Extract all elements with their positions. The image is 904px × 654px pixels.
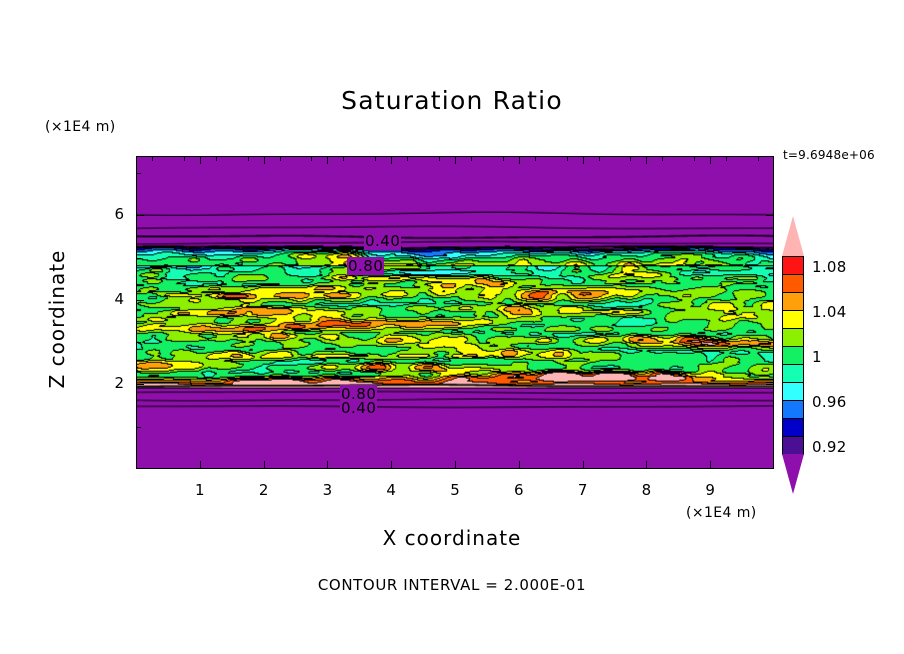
colorbar-tick-label: 0.92 bbox=[812, 438, 847, 456]
colorbar bbox=[782, 256, 804, 454]
x-axis-title: X coordinate bbox=[0, 526, 904, 550]
saturation-ratio-field bbox=[137, 157, 773, 468]
x-tick-label: 8 bbox=[631, 481, 661, 499]
x-tick-label: 9 bbox=[695, 481, 725, 499]
colorbar-segment bbox=[782, 328, 804, 347]
x-tick-label: 2 bbox=[249, 481, 279, 499]
y-tick-label: 4 bbox=[94, 290, 124, 308]
x-tick-label: 3 bbox=[312, 481, 342, 499]
x-tick-label: 5 bbox=[440, 481, 470, 499]
colorbar-tick-label: 1.08 bbox=[812, 258, 847, 276]
contour-interval-caption: CONTOUR INTERVAL = 2.000E-01 bbox=[0, 576, 904, 594]
y-tick-label: 2 bbox=[94, 374, 124, 392]
time-annotation: t=9.6948e+06 bbox=[783, 148, 875, 162]
x-tick-label: 6 bbox=[504, 481, 534, 499]
x-tick-label: 1 bbox=[185, 481, 215, 499]
colorbar-segment bbox=[782, 382, 804, 401]
colorbar-segment bbox=[782, 436, 804, 455]
page-title: Saturation Ratio bbox=[0, 86, 904, 115]
x-axis-unit-label: (×1E4 m) bbox=[686, 505, 757, 521]
colorbar-bottom-arrow bbox=[782, 454, 804, 494]
contour-plot-area bbox=[136, 156, 774, 469]
x-tick-label: 7 bbox=[568, 481, 598, 499]
colorbar-tick-label: 1 bbox=[812, 348, 822, 366]
colorbar-tick-label: 0.96 bbox=[812, 393, 847, 411]
colorbar-segment bbox=[782, 364, 804, 383]
colorbar-segment bbox=[782, 256, 804, 275]
colorbar-segment bbox=[782, 310, 804, 329]
colorbar-segment bbox=[782, 274, 804, 293]
colorbar-top-arrow bbox=[782, 216, 804, 256]
x-tick-label: 4 bbox=[376, 481, 406, 499]
y-axis-unit-label: (×1E4 m) bbox=[45, 119, 116, 135]
colorbar-tick-label: 1.04 bbox=[812, 303, 847, 321]
colorbar-segment bbox=[782, 346, 804, 365]
colorbar-segment bbox=[782, 292, 804, 311]
colorbar-segment bbox=[782, 400, 804, 419]
y-tick-label: 6 bbox=[94, 205, 124, 223]
y-axis-title: Z coordinate bbox=[45, 229, 69, 409]
colorbar-segment bbox=[782, 418, 804, 437]
